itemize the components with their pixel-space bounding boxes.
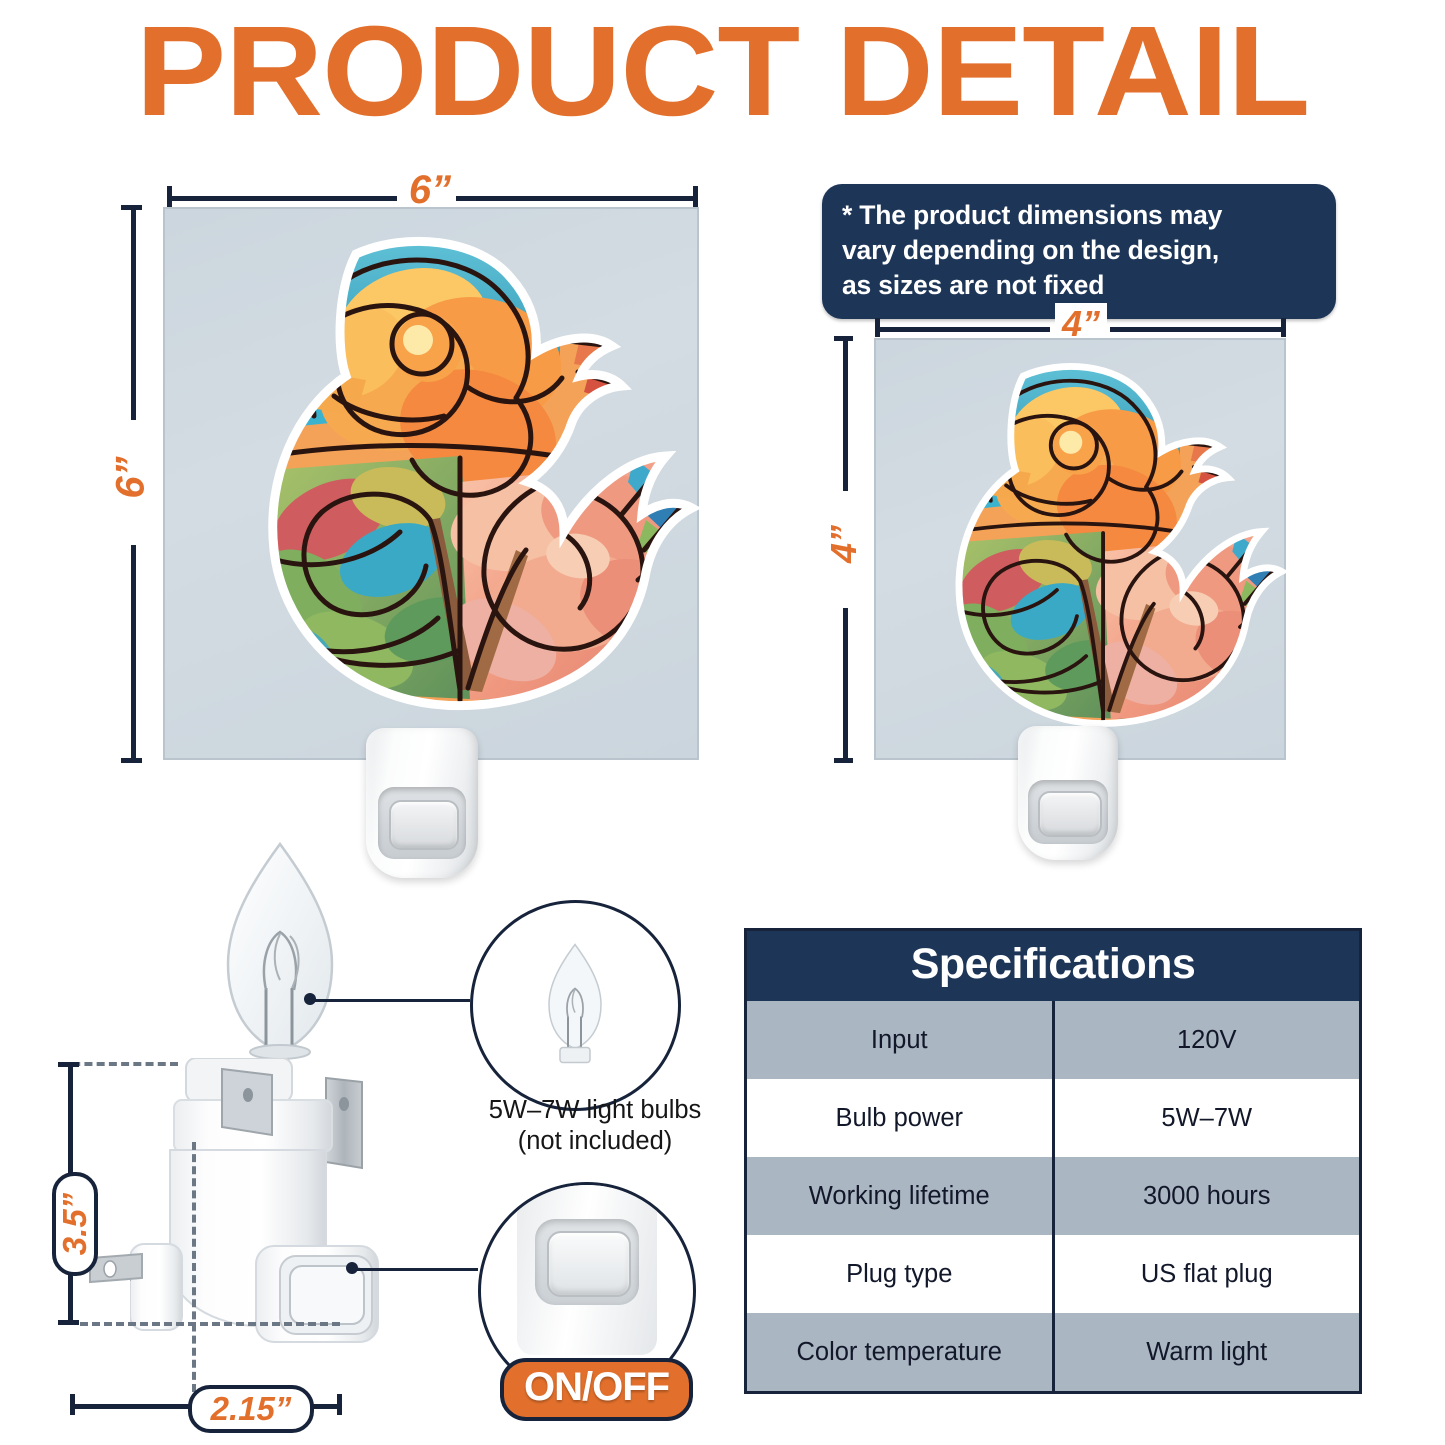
on-off-badge: ON/OFF bbox=[500, 1358, 693, 1421]
right-height-dim-cap-top bbox=[834, 336, 853, 341]
depth-215-label: 2.15” bbox=[211, 1390, 292, 1428]
light-bulb-icon bbox=[180, 838, 380, 1088]
spec-key: Color temperature bbox=[747, 1313, 1053, 1391]
left-width-dim-line-b bbox=[455, 196, 695, 201]
switch-callout-rocker[interactable] bbox=[547, 1231, 631, 1297]
table-row: Input 120V bbox=[747, 1001, 1359, 1079]
height-35-dim-line-b bbox=[68, 1270, 73, 1322]
left-height-label: 6” bbox=[109, 452, 154, 504]
note-line-1: * The product dimensions may bbox=[842, 198, 1316, 233]
switch-leader-dot bbox=[346, 1262, 358, 1274]
bulb-leader-line bbox=[310, 999, 470, 1002]
right-height-dim-line-a bbox=[843, 336, 848, 491]
right-height-dim-cap-bottom bbox=[834, 758, 853, 763]
right-width-dim-cap-left bbox=[875, 318, 880, 337]
left-rocker-switch[interactable] bbox=[389, 800, 459, 850]
left-width-dim-line-a bbox=[167, 196, 397, 201]
depth-215-cap-right bbox=[337, 1394, 342, 1415]
spec-value: Warm light bbox=[1053, 1313, 1359, 1391]
depth-guide-dashed-h bbox=[80, 1322, 340, 1326]
height-35-label-pill: 3.5” bbox=[52, 1172, 98, 1276]
right-rocker-switch[interactable] bbox=[1038, 791, 1102, 837]
right-height-label: 4” bbox=[823, 518, 865, 570]
specifications-header: Specifications bbox=[747, 931, 1359, 1001]
spec-value: 120V bbox=[1053, 1001, 1359, 1079]
specifications-grid: Input 120V Bulb power 5W–7W Working life… bbox=[747, 1001, 1359, 1391]
dimensions-disclaimer-note: * The product dimensions may vary depend… bbox=[822, 184, 1336, 319]
bulb-caption-line-1: 5W–7W light bulbs bbox=[440, 1095, 750, 1126]
specifications-table: Specifications Input 120V Bulb power 5W–… bbox=[744, 928, 1362, 1394]
bulb-callout-circle bbox=[470, 900, 681, 1111]
table-row: Color temperature Warm light bbox=[747, 1313, 1359, 1391]
height-35-cap-top bbox=[58, 1062, 79, 1067]
spec-key: Plug type bbox=[747, 1235, 1053, 1313]
spec-key: Input bbox=[747, 1001, 1053, 1079]
height-35-cap-bottom bbox=[58, 1320, 79, 1325]
table-row: Plug type US flat plug bbox=[747, 1235, 1359, 1313]
table-row: Working lifetime 3000 hours bbox=[747, 1157, 1359, 1235]
left-height-dim-line-b bbox=[131, 545, 136, 760]
bulb-leader-dot bbox=[304, 993, 316, 1005]
right-duck-artwork bbox=[872, 350, 1288, 750]
right-height-dim-line-b bbox=[843, 608, 848, 760]
bulb-caption-line-2: (not included) bbox=[440, 1126, 750, 1157]
height-35-dim-line-a bbox=[68, 1062, 73, 1174]
bulb-caption: 5W–7W light bulbs (not included) bbox=[440, 1095, 750, 1157]
spec-key: Working lifetime bbox=[747, 1157, 1053, 1235]
right-width-dim-line-b bbox=[1110, 327, 1283, 332]
note-line-3: as sizes are not fixed bbox=[842, 268, 1316, 303]
height-35-label: 3.5” bbox=[56, 1193, 94, 1255]
spec-value: US flat plug bbox=[1053, 1235, 1359, 1313]
left-width-dim-cap-left bbox=[167, 186, 172, 207]
depth-guide-dashed-v bbox=[192, 1142, 196, 1392]
spec-value: 3000 hours bbox=[1053, 1157, 1359, 1235]
switch-leader-line bbox=[352, 1268, 478, 1271]
left-width-dim-cap-right bbox=[693, 186, 698, 207]
bulb-callout-zoom-icon bbox=[525, 909, 625, 1099]
right-width-dim-cap-right bbox=[1281, 318, 1286, 337]
depth-215-dim-line-a bbox=[70, 1404, 198, 1409]
right-width-dim-line-a bbox=[875, 327, 1050, 332]
mounting-bracket-tab bbox=[218, 1065, 302, 1141]
page-title: PRODUCT DETAIL bbox=[0, 8, 1445, 136]
left-height-dim-cap-bottom bbox=[121, 758, 142, 763]
spec-key: Bulb power bbox=[747, 1079, 1053, 1157]
depth-215-label-pill: 2.15” bbox=[188, 1385, 314, 1433]
left-duck-artwork bbox=[160, 220, 700, 740]
depth-215-cap-left bbox=[70, 1394, 75, 1415]
left-height-dim-cap-top bbox=[121, 205, 142, 210]
left-height-dim-line-a bbox=[131, 205, 136, 420]
table-row: Bulb power 5W–7W bbox=[747, 1079, 1359, 1157]
spec-value: 5W–7W bbox=[1053, 1079, 1359, 1157]
note-line-2: vary depending on the design, bbox=[842, 233, 1316, 268]
